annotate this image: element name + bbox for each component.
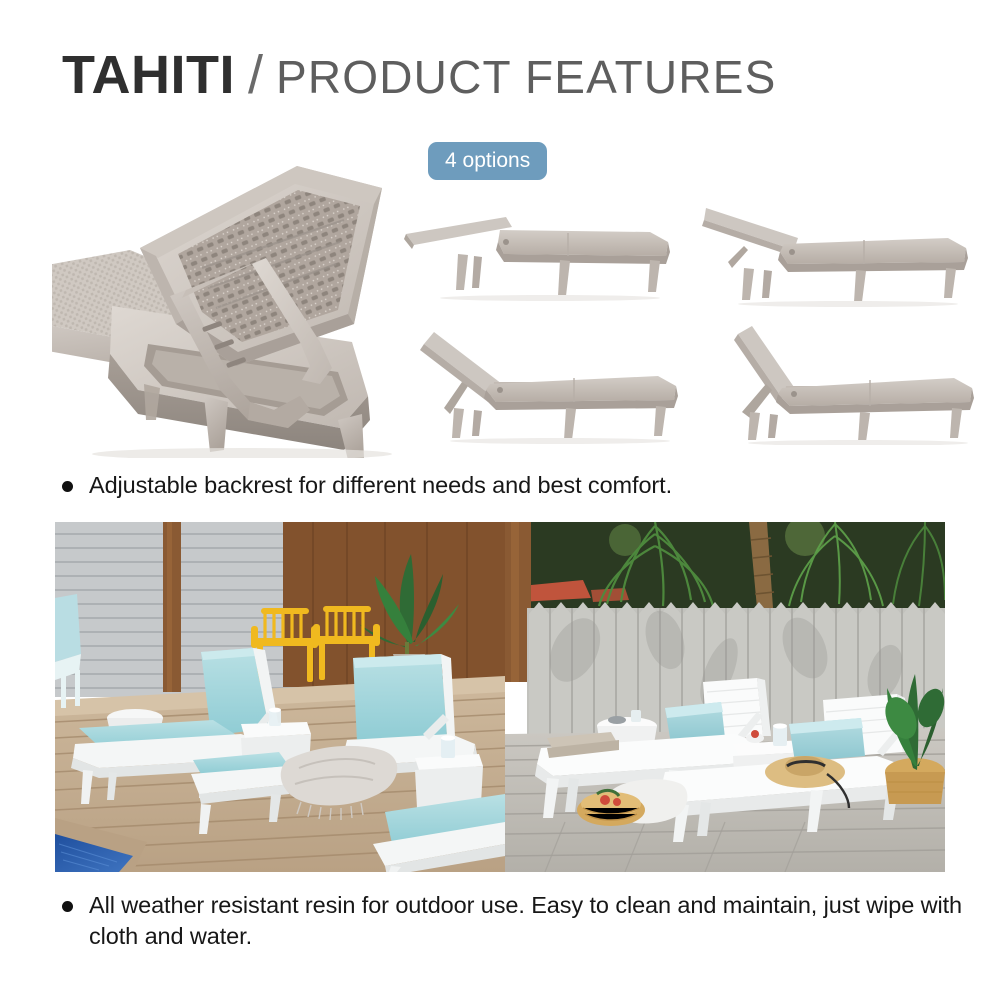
title-separator: / [248, 48, 263, 102]
bullet-dot-icon [62, 481, 73, 492]
brand-name: TAHITI [62, 48, 235, 102]
recline-position-3[interactable] [410, 320, 700, 445]
lifestyle-photo-strip [55, 522, 945, 872]
recline-position-4[interactable] [708, 320, 998, 445]
recline-options-grid [398, 190, 998, 458]
feature-text: Adjustable backrest for different needs … [89, 470, 672, 501]
feature-text: All weather resistant resin for outdoor … [89, 890, 962, 952]
hero-product-image [52, 128, 432, 458]
feature-weather-resistant: All weather resistant resin for outdoor … [62, 890, 962, 952]
product-features-page: TAHITI / PRODUCT FEATURES [0, 0, 1000, 1000]
recline-position-1[interactable] [400, 190, 690, 315]
options-count-badge: 4 options [428, 142, 547, 180]
page-subtitle: PRODUCT FEATURES [276, 54, 777, 100]
lifestyle-photo-poolside-deck [55, 522, 505, 872]
page-title: TAHITI / PRODUCT FEATURES [62, 48, 777, 102]
bullet-dot-icon [62, 901, 73, 912]
recline-position-2[interactable] [698, 190, 988, 315]
feature-adjustable-backrest: Adjustable backrest for different needs … [62, 470, 942, 501]
lifestyle-photo-garden-fence [505, 522, 945, 872]
